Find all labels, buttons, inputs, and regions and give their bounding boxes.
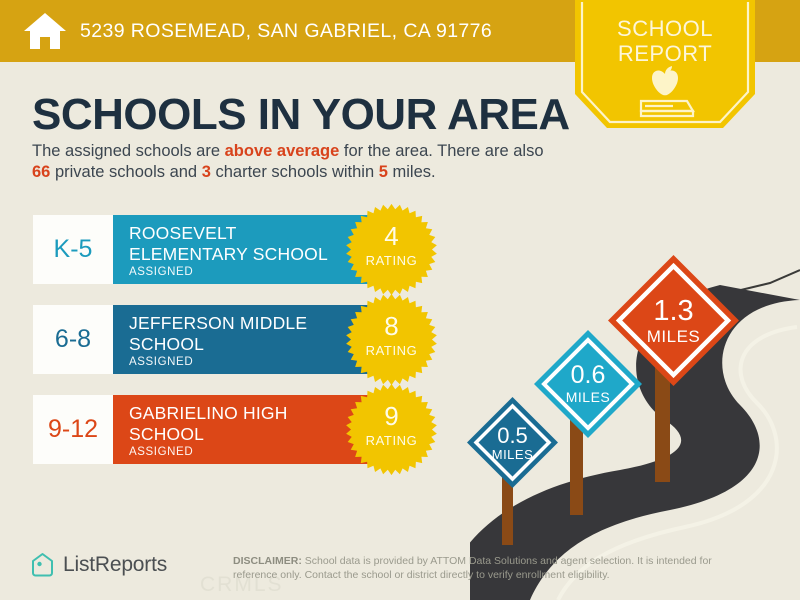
school-rating-label: RATING: [345, 343, 438, 358]
school-rating-label: RATING: [345, 433, 438, 448]
school-list: K-5 ROOSEVELT ELEMENTARY SCHOOL ASSIGNED…: [33, 215, 453, 485]
school-name-line1: ROOSEVELT: [129, 223, 368, 244]
sign-distance-unit: MILES: [465, 447, 560, 462]
disclaimer-body: School data is provided by ATTOM Data So…: [233, 555, 712, 581]
school-row[interactable]: 9-12 GABRIELINO HIGH SCHOOL ASSIGNED 9 R…: [33, 395, 453, 464]
badge-title-line2: REPORT: [575, 41, 755, 66]
school-grade-badge: 6-8: [33, 305, 113, 374]
school-info-bar: JEFFERSON MIDDLE SCHOOL ASSIGNED: [113, 305, 368, 374]
page-title: SCHOOLS IN YOUR AREA: [32, 90, 570, 140]
school-name-line1: GABRIELINO HIGH: [129, 403, 368, 424]
distance-sign: 1.3 MILES: [606, 253, 741, 388]
school-name-line2: SCHOOL: [129, 334, 368, 355]
subtitle-highlight-private-count: 66: [32, 163, 50, 181]
subtitle-highlight-charter-count: 3: [202, 163, 211, 181]
school-rating-badge: 9 RATING: [345, 383, 438, 476]
badge-title-line1: SCHOOL: [575, 16, 755, 41]
school-row[interactable]: K-5 ROOSEVELT ELEMENTARY SCHOOL ASSIGNED…: [33, 215, 453, 284]
disclaimer-text: DISCLAIMER: School data is provided by A…: [233, 554, 713, 582]
school-info-bar: GABRIELINO HIGH SCHOOL ASSIGNED: [113, 395, 368, 464]
subtitle-highlight-radius: 5: [379, 163, 388, 181]
school-grade-label: 9-12: [48, 415, 98, 444]
house-icon: [22, 10, 68, 52]
subtitle-part-4: charter schools within: [211, 163, 379, 181]
subtitle-part-3: private schools and: [50, 163, 201, 181]
listreports-wordmark: ListReports: [63, 553, 167, 577]
badge-title: SCHOOL REPORT: [575, 16, 755, 66]
school-rating-badge: 4 RATING: [345, 203, 438, 296]
listreports-house-icon: [30, 552, 55, 578]
subtitle-part-1: The assigned schools are: [32, 142, 225, 160]
sign-distance-value: 1.3: [606, 295, 741, 328]
sign-distance-unit: MILES: [606, 327, 741, 347]
school-grade-badge: 9-12: [33, 395, 113, 464]
school-rating-value: 9: [345, 403, 438, 429]
school-row[interactable]: 6-8 JEFFERSON MIDDLE SCHOOL ASSIGNED 8 R…: [33, 305, 453, 374]
school-rating-badge: 8 RATING: [345, 293, 438, 386]
school-status: ASSIGNED: [129, 356, 368, 368]
header-address: 5239 ROSEMEAD, SAN GABRIEL, CA 91776: [80, 20, 492, 43]
school-info-bar: ROOSEVELT ELEMENTARY SCHOOL ASSIGNED: [113, 215, 368, 284]
school-name-line2: SCHOOL: [129, 424, 368, 445]
school-grade-label: 6-8: [55, 325, 91, 354]
school-status: ASSIGNED: [129, 266, 368, 278]
school-name-line1: JEFFERSON MIDDLE: [129, 313, 368, 334]
subtitle-part-2: for the area. There are also: [339, 142, 543, 160]
disclaimer-label: DISCLAIMER:: [233, 555, 302, 567]
school-status: ASSIGNED: [129, 446, 368, 458]
school-rating-label: RATING: [345, 253, 438, 268]
page-subtitle: The assigned schools are above average f…: [32, 141, 562, 183]
subtitle-part-5: miles.: [388, 163, 436, 181]
school-report-badge: SCHOOL REPORT: [575, 0, 755, 128]
sign-distance-unit: MILES: [532, 389, 644, 405]
subtitle-highlight-quality: above average: [225, 142, 340, 160]
school-grade-badge: K-5: [33, 215, 113, 284]
distance-scene: 0.5 MILES 0.6 MILES 1.3 MILES: [470, 255, 800, 600]
school-grade-label: K-5: [54, 235, 93, 264]
listreports-logo[interactable]: ListReports: [30, 552, 167, 578]
school-rating-value: 4: [345, 223, 438, 249]
school-rating-value: 8: [345, 313, 438, 339]
school-name-line2: ELEMENTARY SCHOOL: [129, 244, 368, 265]
